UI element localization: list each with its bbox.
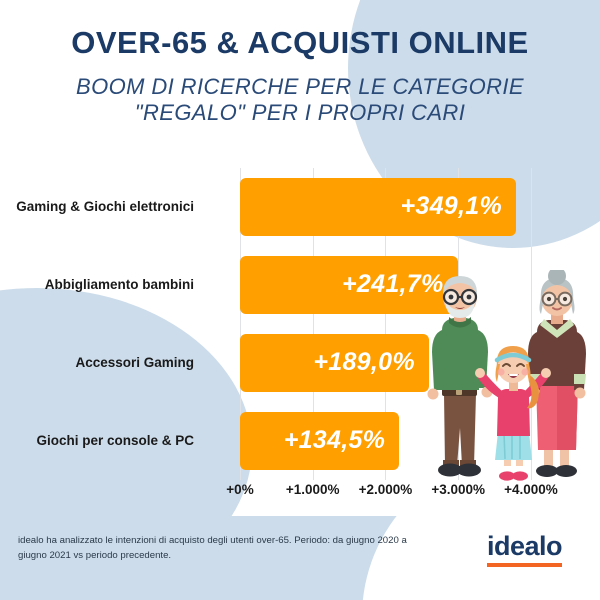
x-axis-tick-label: +1.000% <box>286 482 340 497</box>
x-axis-tick-label: +0% <box>226 482 253 497</box>
idealo-logo: idealo <box>487 533 562 567</box>
idealo-logo-wordmark: idealo <box>487 533 562 560</box>
idealo-logo-underline <box>487 563 562 567</box>
bar-category-label: Gaming & Giochi elettronici <box>16 178 194 236</box>
bar: +349,1% <box>240 178 516 236</box>
bar: +189,0% <box>240 334 429 392</box>
chart-row: Gaming & Giochi elettronici+349,1% <box>240 178 560 236</box>
bar-category-label: Giochi per console & PC <box>36 412 194 470</box>
bar-category-label: Abbigliamento bambini <box>45 256 194 314</box>
figure-grandmother <box>528 270 586 477</box>
header: OVER-65 & ACQUISTI ONLINE BOOM DI RICERC… <box>0 26 600 126</box>
page-subtitle-line-1: BOOM DI RICERCHE PER LE CATEGORIE <box>0 74 600 100</box>
page-title: OVER-65 & ACQUISTI ONLINE <box>0 26 600 60</box>
bar-value-label: +134,5% <box>284 426 386 455</box>
illustration-grandparents-with-granddaughter <box>424 270 600 492</box>
bar-value-label: +349,1% <box>401 192 503 221</box>
bar-category-label: Accessori Gaming <box>75 334 194 392</box>
bar-value-label: +189,0% <box>313 348 415 377</box>
x-axis-tick-label: +2.000% <box>359 482 413 497</box>
infographic-canvas: OVER-65 & ACQUISTI ONLINE BOOM DI RICERC… <box>0 0 600 600</box>
page-subtitle-line-2: "REGALO" PER I PROPRI CARI <box>0 100 600 126</box>
bar: +134,5% <box>240 412 399 470</box>
page-subtitle: BOOM DI RICERCHE PER LE CATEGORIE "REGAL… <box>0 74 600 126</box>
footer-note: idealo ha analizzato le intenzioni di ac… <box>18 534 438 564</box>
